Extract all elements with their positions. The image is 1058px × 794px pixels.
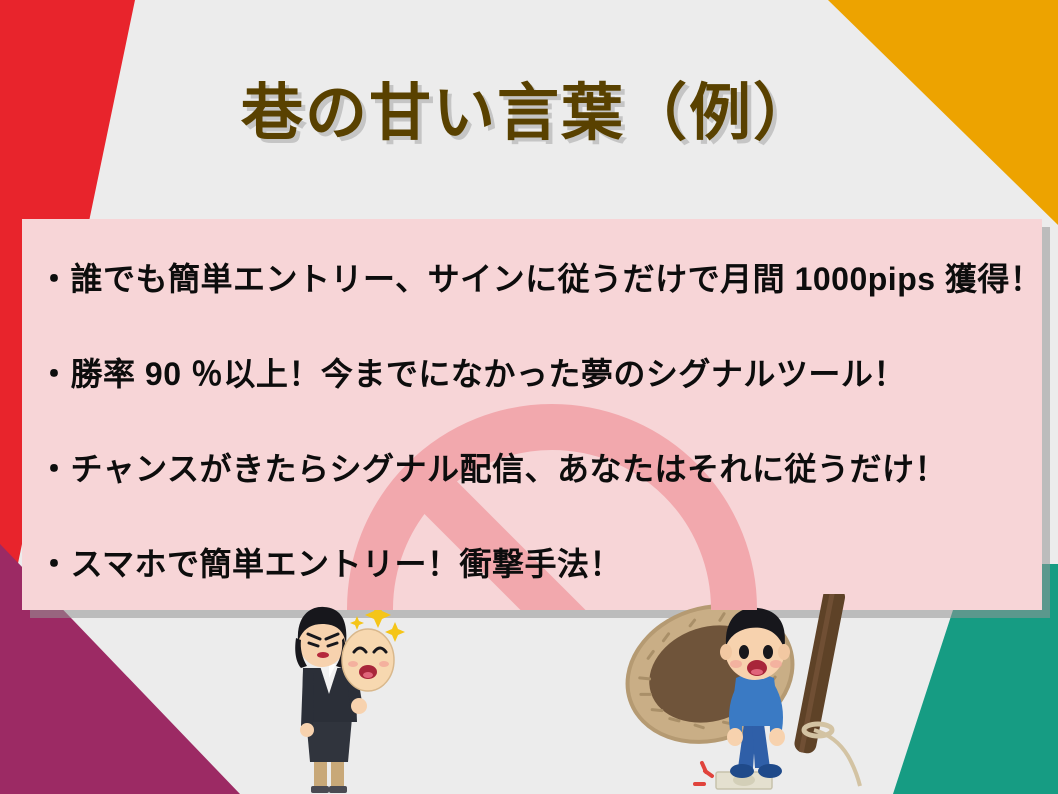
slide: 巷の甘い言葉（例） ・誰でも簡単エントリー、サインに従うだけで月間 1000pi… (0, 0, 1058, 794)
bullet-item: ・スマホで簡単エントリー！衝撃手法！ (38, 548, 1042, 580)
bullet-item: ・勝率 90 ％以上！今までになかった夢のシグナルツール！ (38, 358, 1042, 390)
content-box: ・誰でも簡単エントリー、サインに従うだけで月間 1000pips 獲得！ ・勝率… (22, 219, 1042, 610)
two-faced-woman-illustration (258, 598, 410, 794)
basket-trap-illustration (618, 594, 870, 794)
bullet-item: ・誰でも簡単エントリー、サインに従うだけで月間 1000pips 獲得！ (38, 263, 1042, 295)
bullet-item: ・チャンスがきたらシグナル配信、あなたはそれに従うだけ！ (38, 453, 1042, 485)
slide-title: 巷の甘い言葉（例） (0, 62, 1058, 152)
bullet-list: ・誰でも簡単エントリー、サインに従うだけで月間 1000pips 獲得！ ・勝率… (22, 219, 1042, 580)
